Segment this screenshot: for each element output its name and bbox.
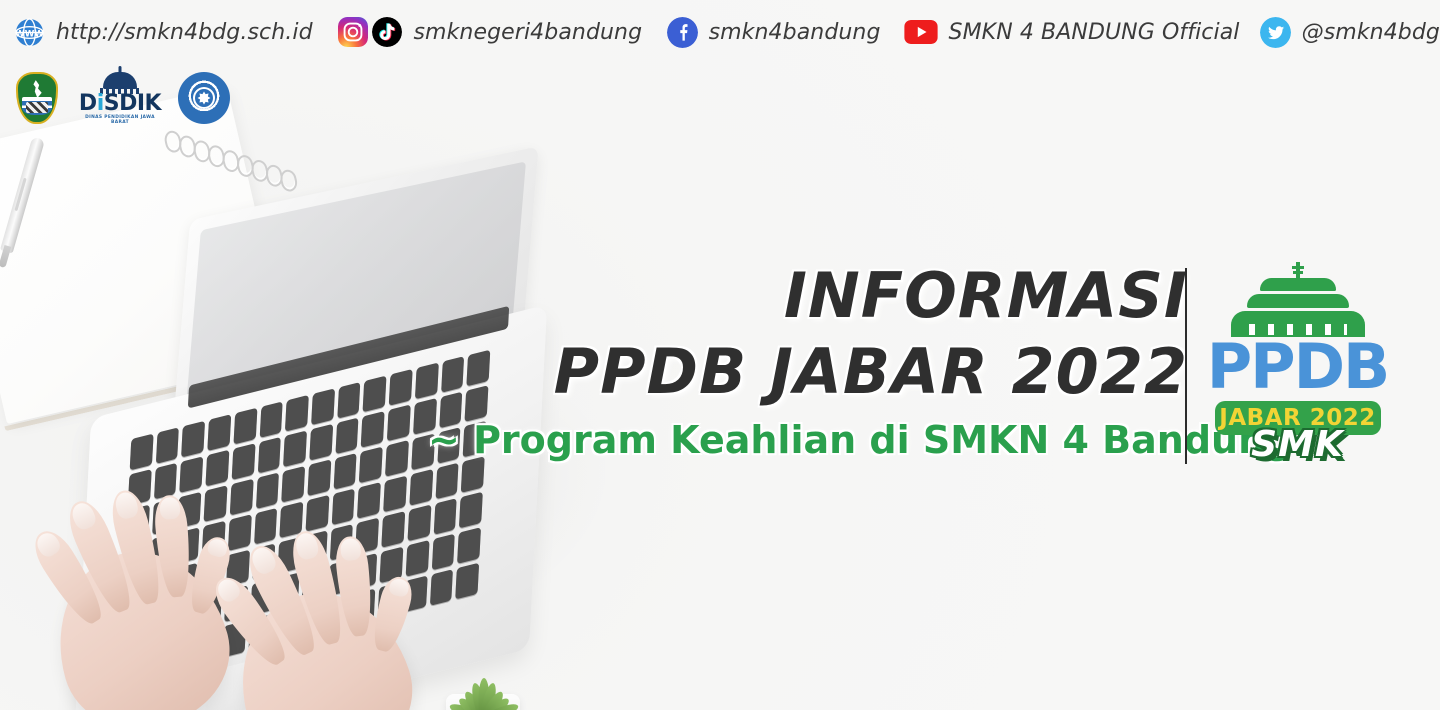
- fingernail: [33, 529, 63, 560]
- social-label-facebook: smkn4bandung: [709, 20, 881, 45]
- sate-windows: [1249, 324, 1347, 335]
- instagram-icon: [338, 17, 368, 47]
- keyboard-key: [233, 408, 257, 445]
- succulent-plant: [424, 662, 544, 710]
- twitter-icon: [1260, 17, 1291, 48]
- keyboard-key: [337, 382, 361, 419]
- jabar-dam-motif: [26, 102, 48, 113]
- headline-line-1: INFORMASI: [428, 258, 1188, 334]
- fingernail: [113, 490, 140, 520]
- ppdb-wordmark: PPDB: [1205, 338, 1390, 396]
- keyboard-key: [363, 375, 387, 412]
- disdik-subtitle: DINAS PENDIDIKAN JAWA BARAT: [76, 115, 164, 125]
- fingernail: [340, 537, 362, 561]
- svg-text:WWW: WWW: [15, 29, 44, 39]
- headline-subtitle: ~ Program Keahlian di SMKN 4 Bandung: [428, 416, 1188, 464]
- keyboard-key: [259, 401, 283, 438]
- finger: [368, 573, 417, 654]
- fingernail: [293, 531, 320, 561]
- ppdb-jabar-2022-logo: PPDB JABAR 2022 SMK: [1205, 262, 1390, 477]
- keyboard-key: [455, 563, 479, 600]
- social-label-twitter: @smkn4bdg: [1302, 20, 1440, 45]
- institution-logo-row: DiSDIK DINAS PENDIDIKAN JAWA BARAT: [12, 70, 230, 126]
- social-label-youtube: SMKN 4 BANDUNG Official: [949, 20, 1240, 45]
- keyboard-key: [285, 395, 309, 432]
- keyboard-key: [389, 369, 413, 406]
- keyboard-key: [311, 388, 335, 425]
- jabar-provincial-emblem: [12, 70, 62, 126]
- fingernail: [68, 500, 98, 532]
- social-item-twitter[interactable]: @smkn4bdg: [1260, 17, 1440, 48]
- sate-upper-roof: [1260, 278, 1336, 291]
- keyboard-key: [457, 527, 481, 564]
- vertical-divider: [1185, 268, 1187, 464]
- gedung-sate-dome-icon: [103, 72, 137, 89]
- disdik-logo: DiSDIK DINAS PENDIDIKAN JAWA BARAT: [76, 70, 164, 126]
- fingernail: [214, 575, 244, 605]
- gedung-sate-icon: [1205, 262, 1390, 340]
- social-item-youtube[interactable]: SMKN 4 BANDUNG Official: [904, 20, 1240, 45]
- keyboard-key: [257, 437, 281, 474]
- keyboard-key: [435, 463, 459, 500]
- ppdb-information-banner: WWW http://smkn4bdg.sch.id: [0, 0, 1440, 710]
- keyboard-key: [459, 492, 483, 529]
- jabar-shield: [16, 72, 58, 124]
- social-label-instagram: smknegeri4bandung: [413, 20, 642, 45]
- keyboard-key: [309, 424, 333, 461]
- fingernail: [388, 577, 410, 598]
- keyboard-key: [387, 405, 411, 442]
- fingernail: [248, 544, 279, 577]
- smkn4-school-emblem: [178, 70, 230, 126]
- social-label-website: http://smkn4bdg.sch.id: [56, 20, 313, 45]
- headline-line-2: PPDB JABAR 2022: [428, 334, 1188, 410]
- social-item-facebook[interactable]: smkn4bandung: [667, 17, 881, 48]
- sate-mid-roof: [1247, 294, 1349, 308]
- tiktok-icon: [372, 17, 402, 47]
- kujang-icon: [31, 79, 42, 98]
- facebook-icon: [667, 17, 698, 48]
- globe-www-icon: WWW: [14, 17, 45, 48]
- ppdb-smk-label: SMK: [1205, 426, 1390, 464]
- keyboard-key: [283, 430, 307, 467]
- youtube-icon: [904, 20, 938, 44]
- headline-block: INFORMASI PPDB JABAR 2022 ~ Program Keah…: [428, 258, 1188, 464]
- social-item-instagram[interactable]: smknegeri4bandung: [338, 17, 642, 47]
- social-item-website[interactable]: WWW http://smkn4bdg.sch.id: [14, 17, 313, 48]
- sate-spire: [1296, 262, 1300, 278]
- social-media-bar: WWW http://smkn4bdg.sch.id: [0, 0, 1440, 64]
- keyboard-key: [335, 417, 359, 454]
- disdik-wordmark: DiSDIK: [76, 93, 164, 115]
- keyboard-key: [433, 498, 457, 535]
- keyboard-key: [361, 411, 385, 448]
